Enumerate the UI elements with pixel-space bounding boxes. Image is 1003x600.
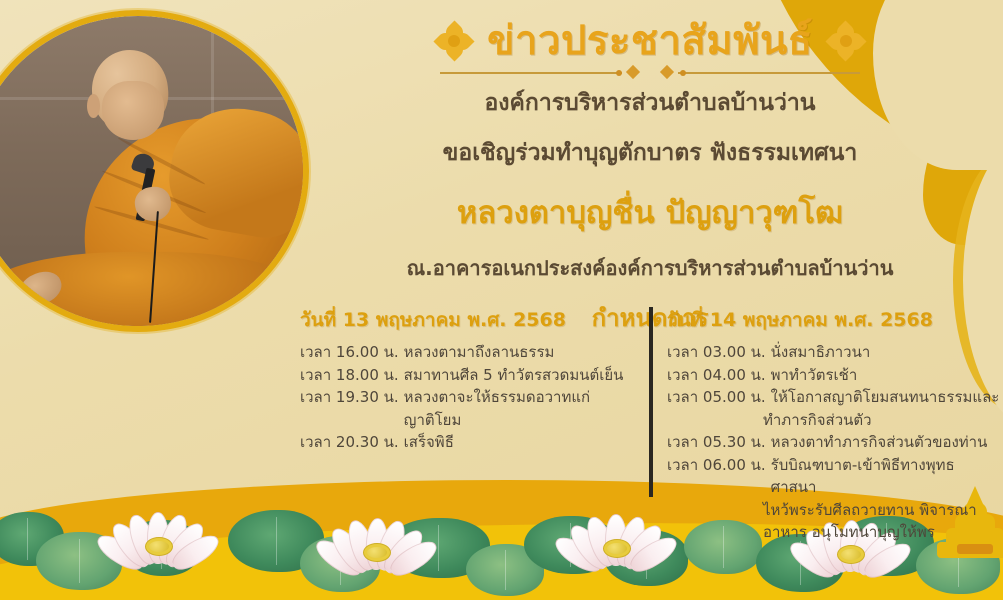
schedule-desc: เสร็จพิธี	[404, 431, 454, 454]
header-block: ข่าวประชาสัมพันธ์ องค์การบริหารส่วนตำบลบ…	[300, 20, 1000, 337]
monk-photo-inner	[0, 16, 303, 326]
schedule-desc: นั่งสมาธิภาวนา	[771, 341, 871, 364]
schedule-item: เวลา 19.30 น. หลวงตาจะให้ธรรมดอวาทแก่ญาต…	[300, 386, 631, 431]
schedule-desc-cont: ทำภารกิจส่วนตัว	[667, 409, 1000, 432]
schedule-desc: หลวงตามาถึงลานธรรม	[404, 341, 555, 364]
schedule-desc: หลวงตาจะให้ธรรมดอวาทแก่ญาติโยม	[404, 386, 631, 431]
schedule-day-1: วันที่ 13 พฤษภาคม พ.ศ. 2568 เวลา 16.00 น…	[300, 305, 645, 544]
schedule-time: เวลา 05.30 น.	[667, 431, 766, 454]
schedule-time: เวลา 04.00 น.	[667, 364, 766, 387]
schedule-item: เวลา 03.00 น. นั่งสมาธิภาวนา	[667, 341, 1000, 364]
schedule-item: เวลา 06.00 น. รับบิณฑบาต-เข้าพิธีทางพุทธ…	[667, 454, 1000, 499]
schedule-desc: สมาทานศีล 5 ทำวัตรสวดมนต์เย็น	[404, 364, 624, 387]
monk-photo	[0, 10, 309, 332]
schedule-item: เวลา 20.30 น. เสร็จพิธี	[300, 431, 631, 454]
title-row: ข่าวประชาสัมพันธ์	[300, 20, 1000, 62]
schedule-time: เวลา 06.00 น.	[667, 454, 766, 499]
day-2-date: วันที่ 14 พฤษภาคม พ.ศ. 2568	[667, 305, 1000, 335]
poster-root: ข่าวประชาสัมพันธ์ องค์การบริหารส่วนตำบลบ…	[0, 0, 1003, 600]
schedule-day-2: วันที่ 14 พฤษภาคม พ.ศ. 2568 เวลา 03.00 น…	[645, 305, 1000, 544]
schedule-desc: หลวงตาทำภารกิจส่วนตัวของท่าน	[771, 431, 988, 454]
schedule-desc: ให้โอกาสญาติโยมสนทนาธรรมและ	[771, 386, 1000, 409]
schedule-item: เวลา 04.00 น. พาทำวัตรเช้า	[667, 364, 1000, 387]
monk-ear	[87, 94, 100, 119]
column-divider	[649, 307, 653, 497]
monk-face	[102, 81, 165, 140]
invitation-line: ขอเชิญร่วมทำบุญตักบาตร ฟังธรรมเทศนา	[300, 135, 1000, 171]
schedule-time: เวลา 05.00 น.	[667, 386, 766, 409]
venue-line: ณ.อาคารอเนกประสงค์องค์การบริหารส่วนตำบลบ…	[300, 252, 1000, 284]
schedule-item: เวลา 05.30 น. หลวงตาทำภารกิจส่วนตัวของท่…	[667, 431, 1000, 454]
schedule-time: เวลา 19.30 น.	[300, 386, 399, 431]
schedule-desc-cont: ไหว้พระรับศีลถวายทาน พิจารณา อาหาร อนุโม…	[667, 499, 1000, 544]
schedule-time: เวลา 18.00 น.	[300, 364, 399, 387]
schedule-time: เวลา 16.00 น.	[300, 341, 399, 364]
schedule-desc: รับบิณฑบาต-เข้าพิธีทางพุทธศาสนา	[771, 454, 1000, 499]
lotus-flower	[98, 494, 218, 564]
page-title: ข่าวประชาสัมพันธ์	[487, 20, 813, 62]
schedule-item: เวลา 16.00 น. หลวงตามาถึงลานธรรม	[300, 341, 631, 364]
monk-name: หลวงตาบุญชื่น ปัญญาวุฑโฒ	[300, 187, 1000, 237]
organization-line: องค์การบริหารส่วนตำบลบ้านว่าน	[300, 85, 1000, 121]
schedule-time: เวลา 03.00 น.	[667, 341, 766, 364]
schedule-desc: พาทำวัตรเช้า	[771, 364, 858, 387]
day-1-date: วันที่ 13 พฤษภาคม พ.ศ. 2568	[300, 305, 631, 335]
schedule-block: วันที่ 13 พฤษภาคม พ.ศ. 2568 เวลา 16.00 น…	[300, 305, 1000, 544]
schedule-time: เวลา 20.30 น.	[300, 431, 399, 454]
schedule-item: เวลา 05.00 น. ให้โอกาสญาติโยมสนทนาธรรมแล…	[667, 386, 1000, 409]
flower-ornament-left-icon	[437, 24, 471, 58]
title-flourish-divider	[440, 65, 860, 79]
schedule-item: เวลา 18.00 น. สมาทานศีล 5 ทำวัตรสวดมนต์เ…	[300, 364, 631, 387]
flower-ornament-right-icon	[829, 24, 863, 58]
